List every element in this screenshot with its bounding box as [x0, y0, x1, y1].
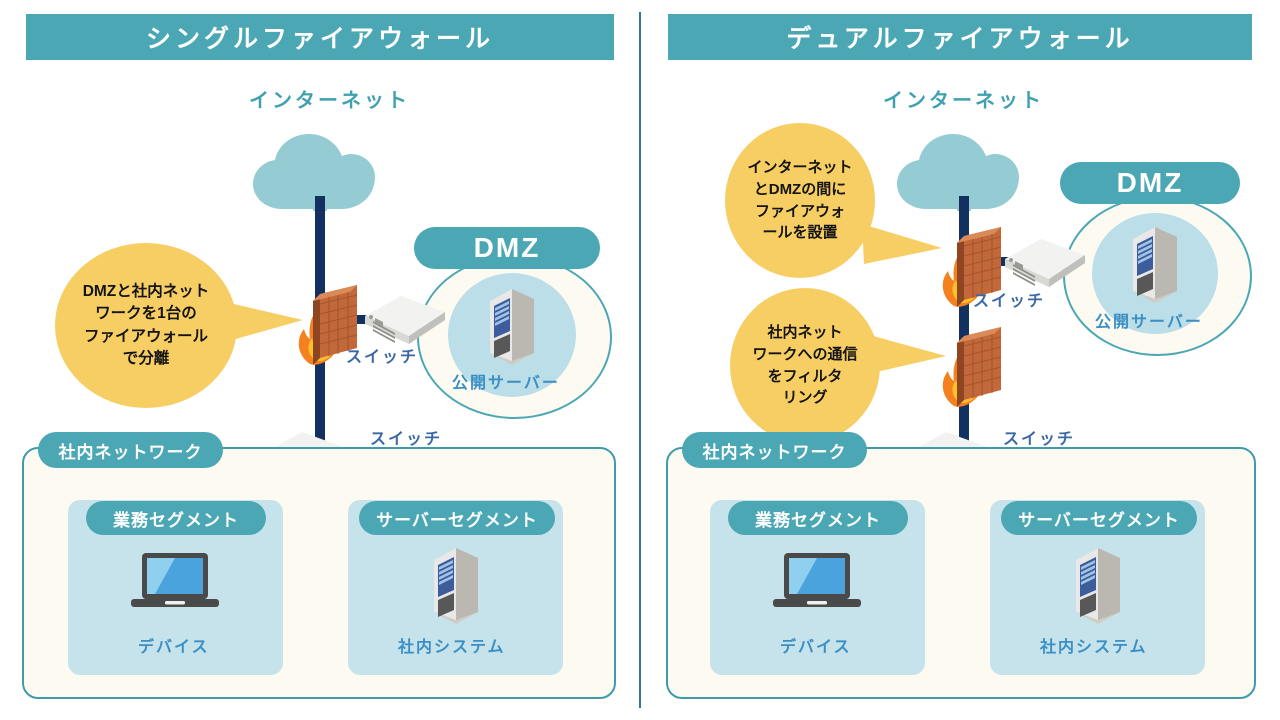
panel-title-dual: デュアルファイアウォール [668, 14, 1252, 60]
segment-title-left-1: サーバーセグメント [359, 501, 555, 535]
segment-title-right-1: サーバーセグメント [1001, 501, 1197, 535]
switch-label-left-internal: スイッチ [370, 425, 442, 449]
laptop-icon [771, 551, 863, 615]
server-rack-icon [1072, 538, 1124, 626]
dmz-server-label-left: 公開サーバー [452, 369, 560, 393]
laptop-icon [129, 551, 221, 615]
callout-pointer-right-1 [866, 330, 948, 378]
panel-title-single: シングルファイアウォール [26, 14, 614, 60]
callout-text-right-1: 社内ネット ワークへの通信 をフィルタ リング [742, 322, 867, 409]
switch-label-right-dmz: スイッチ [973, 287, 1045, 311]
switch-label-right-internal: スイッチ [1003, 425, 1075, 449]
dmz-title-pill-right: DMZ [1060, 162, 1240, 204]
panel-dual-firewall: デュアルファイアウォール インターネット DMZ 公開サーバー [640, 0, 1280, 720]
internal-network-label-right: 社内ネットワーク [682, 432, 867, 468]
segment-device-label-right-0: デバイス [780, 633, 852, 657]
network-switch-icon [1001, 231, 1089, 289]
segment-device-label-left-1: 社内システム [398, 633, 506, 657]
firewall-brick-flame-icon [937, 310, 1013, 414]
internet-label-left: インターネット [249, 84, 410, 113]
server-rack-icon [1129, 217, 1181, 305]
switch-label-left-dmz: スイッチ [346, 343, 418, 367]
server-rack-icon [486, 279, 538, 367]
dmz-title-pill-left: DMZ [414, 227, 600, 269]
callout-bubble-right-1: 社内ネット ワークへの通信 をフィルタ リング [730, 288, 880, 443]
callout-pointer-left [225, 296, 305, 348]
callout-text-left: DMZと社内ネット ワークを1台の ファイアウォール で分離 [73, 281, 220, 371]
segment-device-label-left-0: デバイス [138, 633, 210, 657]
callout-pointer-right-0 [862, 222, 944, 270]
callout-bubble-right-0: インターネット とDMZの間に ファイアウォ ールを設置 [725, 123, 875, 278]
segment-title-left-0: 業務セグメント [86, 501, 266, 535]
segment-device-label-right-1: 社内システム [1040, 633, 1148, 657]
dmz-server-label-right: 公開サーバー [1095, 308, 1203, 332]
callout-text-right-0: インターネット とDMZの間に ファイアウォ ールを設置 [737, 157, 862, 244]
segment-title-right-0: 業務セグメント [728, 501, 908, 535]
panel-single-firewall: シングルファイアウォール インターネット DMZ [0, 0, 640, 720]
server-rack-icon [430, 538, 482, 626]
diagram-canvas: シングルファイアウォール インターネット DMZ [0, 0, 1280, 720]
internal-network-label-left: 社内ネットワーク [38, 432, 223, 468]
network-switch-icon [361, 288, 449, 346]
callout-bubble-left: DMZと社内ネット ワークを1台の ファイアウォール で分離 [55, 243, 237, 408]
internet-label-right: インターネット [883, 84, 1044, 113]
